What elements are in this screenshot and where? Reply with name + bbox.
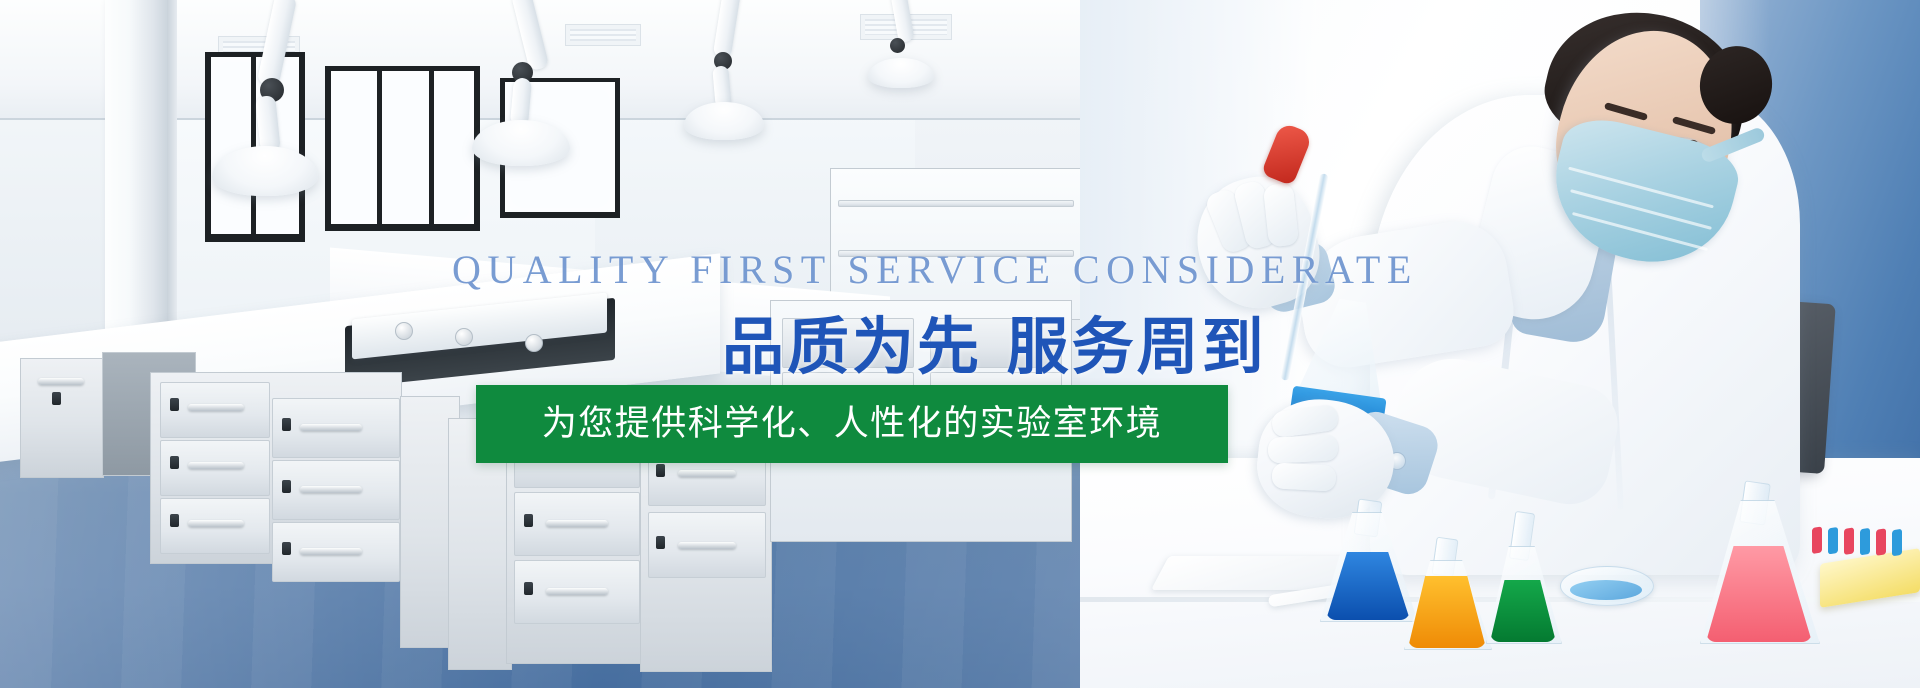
- green-subtitle-bar: 为您提供科学化、人性化的实验室环境: [476, 385, 1228, 463]
- text-overlay: QUALITY FIRST SERVICE CONSIDERATE 品质为先 服…: [0, 0, 1920, 688]
- green-subtitle-text: 为您提供科学化、人性化的实验室环境: [476, 385, 1228, 463]
- chinese-headline: 品质为先 服务周到: [722, 296, 1267, 386]
- english-tagline: QUALITY FIRST SERVICE CONSIDERATE: [452, 246, 1418, 293]
- hero-banner: QUALITY FIRST SERVICE CONSIDERATE 品质为先 服…: [0, 0, 1920, 688]
